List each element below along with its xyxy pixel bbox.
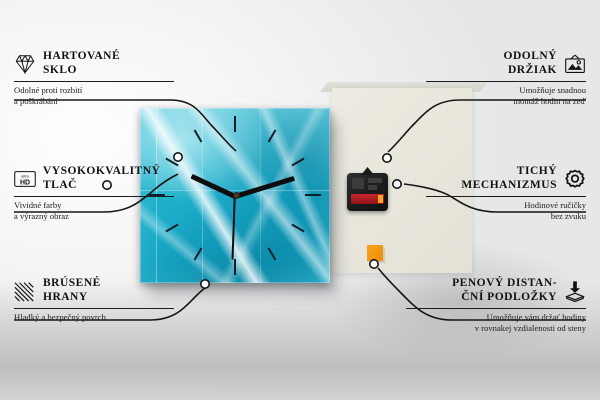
glass-pane-b (202, 108, 260, 190)
feature-header: HARTOVANÉSKLO (14, 50, 174, 77)
feature-divider (406, 308, 586, 309)
clock-tick-7 (194, 247, 203, 260)
clock-tick-3 (305, 194, 321, 196)
clock-tick-12 (234, 116, 236, 132)
feature-header: TICHÝMECHANIZMUS (426, 165, 586, 192)
feature-title: TICHÝMECHANIZMUS (461, 165, 557, 192)
feature-title: HARTOVANÉSKLO (43, 50, 120, 77)
mechanism-battery (351, 194, 384, 204)
feature-description: Hladký a bezpečný povrch (14, 312, 174, 323)
clock-tick-11 (194, 129, 203, 142)
feature-divider (14, 81, 174, 82)
feature-description: Odolné proti rozbitía poškrábání (14, 85, 174, 108)
svg-text:HD: HD (20, 179, 30, 186)
feature-hd-print[interactable]: ultra HD VYSOKOKVALITNÝTLAČ Vividné farb… (14, 165, 174, 223)
battery-terminal (378, 195, 383, 203)
clock-second-hand (232, 196, 236, 260)
brushed-edges-icon (14, 280, 36, 302)
feature-brushed-edges[interactable]: BRÚSENÉHRANY Hladký a bezpečný povrch (14, 277, 174, 323)
clock-tick-4 (291, 224, 304, 233)
feature-header: ODOLNÝDRŽIAK (426, 50, 586, 77)
clock-tick-2 (291, 158, 304, 167)
feature-silent-mechanism[interactable]: TICHÝMECHANIZMUS Hodinové ručičkybez zvu… (426, 165, 586, 223)
clock-tick-6 (234, 259, 236, 275)
feature-title: BRÚSENÉHRANY (43, 277, 101, 304)
feature-divider (14, 308, 174, 309)
glass-reflection-line-3 (260, 108, 261, 283)
feature-title: PENOVÝ DISTAN-ČNÍ PODLOŽKY (452, 277, 557, 304)
feature-foam-pads[interactable]: PENOVÝ DISTAN-ČNÍ PODLOŽKY Umožňuje vám … (406, 277, 586, 335)
mechanism-detail-1 (352, 178, 364, 189)
glass-reflection-line-2 (202, 108, 203, 283)
foam-spacer-icon (564, 280, 586, 302)
clock-minute-hand (234, 176, 295, 199)
clock-hour-hand (190, 174, 236, 199)
clock-tick-1 (268, 129, 277, 142)
feature-header: ultra HD VYSOKOKVALITNÝTLAČ (14, 165, 174, 192)
product-infographic: HARTOVANÉSKLO Odolné proti rozbitía pošk… (0, 0, 600, 400)
clock-center-hub (233, 192, 240, 199)
ultra-hd-icon: ultra HD (14, 168, 36, 190)
mechanism-detail-3 (368, 185, 377, 190)
feature-hanger[interactable]: ODOLNÝDRŽIAK Umožňuje snadnoumontáž hodi… (426, 50, 586, 108)
mechanism-detail-2 (368, 178, 382, 183)
feature-title: VYSOKOKVALITNÝTLAČ (43, 165, 160, 192)
gear-icon (564, 168, 586, 190)
feature-description: Vividné farbya výrazný obraz (14, 200, 174, 223)
clock-tick-8 (165, 224, 178, 233)
clock-mechanism (347, 173, 388, 211)
foam-spacer-pad (367, 245, 383, 261)
diamond-icon (14, 53, 36, 75)
feature-divider (426, 196, 586, 197)
feature-divider (14, 196, 174, 197)
feature-title: ODOLNÝDRŽIAK (504, 50, 557, 77)
picture-hanger-icon (564, 53, 586, 75)
feature-divider (426, 81, 586, 82)
feature-description: Umožňuje snadnoumontáž hodin na zeď (426, 85, 586, 108)
feature-header: BRÚSENÉHRANY (14, 277, 174, 304)
feature-description: Hodinové ručičkybez zvuku (426, 200, 586, 223)
feature-header: PENOVÝ DISTAN-ČNÍ PODLOŽKY (406, 277, 586, 304)
svg-text:ultra: ultra (21, 174, 29, 178)
feature-hardened-glass[interactable]: HARTOVANÉSKLO Odolné proti rozbitía pošk… (14, 50, 174, 108)
feature-description: Umožňuje vám držať hodinyv rovnakej vzdi… (406, 312, 586, 335)
clock-tick-5 (268, 247, 277, 260)
